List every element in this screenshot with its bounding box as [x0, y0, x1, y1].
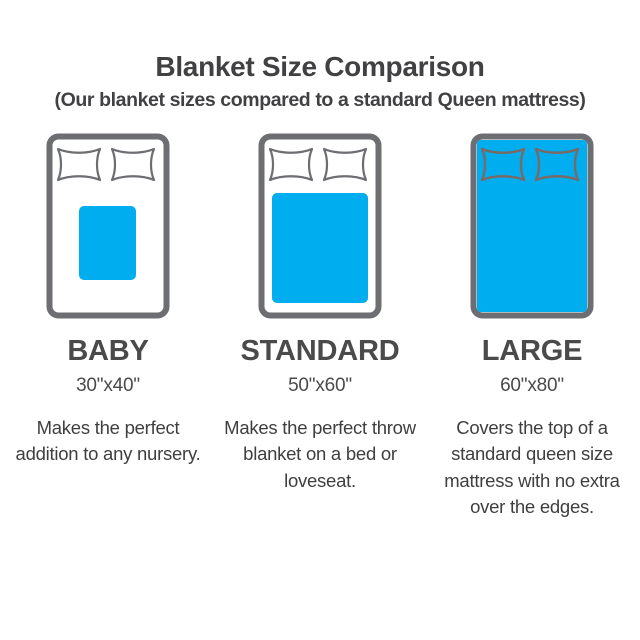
bed-diagram-large: [470, 133, 594, 319]
size-name-baby: BABY: [67, 337, 148, 366]
pillow-left-icon: [270, 149, 312, 180]
comparison-columns: BABY 30"x40" Makes the perfect addition …: [0, 133, 640, 520]
comparison-column-standard: STANDARD 50"x60" Makes the perfect throw…: [214, 133, 426, 494]
size-description-standard: Makes the perfect throw blanket on a bed…: [222, 415, 418, 494]
bed-illustration-icon: [46, 133, 170, 319]
pillow-left-icon: [58, 149, 100, 180]
size-dimensions-large: 60"x80": [500, 376, 564, 395]
size-dimensions-standard: 50"x60": [288, 376, 352, 395]
bed-diagram-standard: [258, 133, 382, 319]
size-description-large: Covers the top of a standard queen size …: [434, 415, 630, 520]
bed-diagram-baby: [46, 133, 170, 319]
header: Blanket Size Comparison (Our blanket siz…: [0, 0, 640, 111]
pillow-right-icon: [112, 149, 154, 180]
blanket-overlay-standard: [272, 193, 368, 303]
comparison-column-large: LARGE 60"x80" Covers the top of a standa…: [426, 133, 638, 520]
blanket-overlay-large: [477, 140, 587, 312]
size-dimensions-baby: 30"x40": [76, 376, 140, 395]
size-name-standard: STANDARD: [241, 337, 400, 366]
bed-illustration-icon: [258, 133, 382, 319]
bed-illustration-icon: [470, 133, 594, 319]
page-subtitle: (Our blanket sizes compared to a standar…: [0, 89, 640, 111]
size-description-baby: Makes the perfect addition to any nurser…: [10, 415, 206, 468]
size-name-large: LARGE: [482, 337, 583, 366]
page-title: Blanket Size Comparison: [0, 52, 640, 83]
blanket-size-comparison-infographic: Blanket Size Comparison (Our blanket siz…: [0, 0, 640, 640]
pillow-right-icon: [324, 149, 366, 180]
comparison-column-baby: BABY 30"x40" Makes the perfect addition …: [2, 133, 214, 468]
blanket-overlay-baby: [79, 206, 136, 280]
